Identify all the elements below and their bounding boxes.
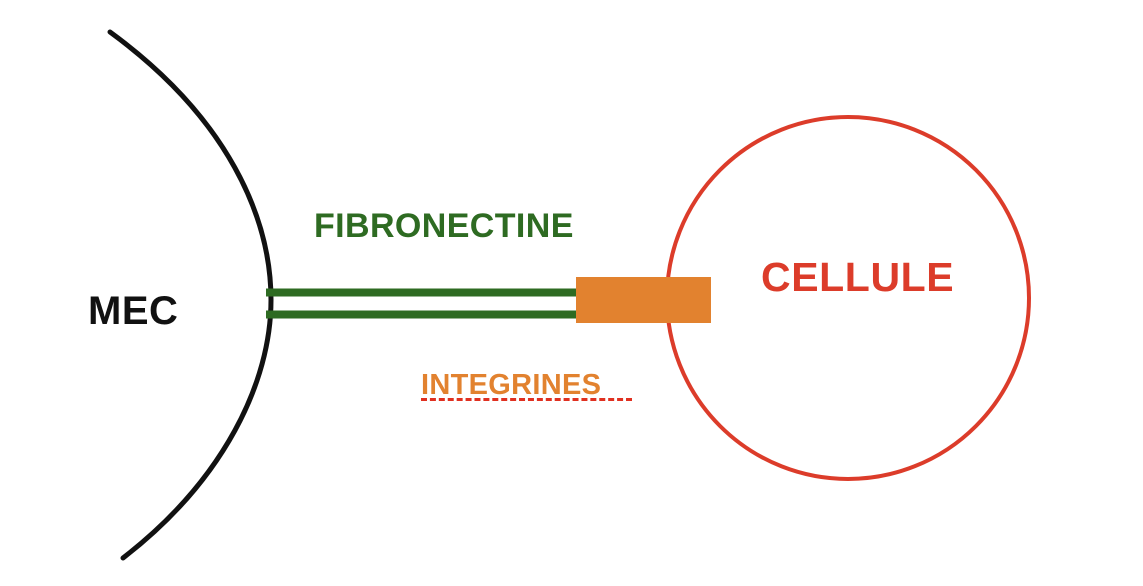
label-fibronectine: FIBRONECTINE — [314, 209, 574, 243]
label-integrines: INTEGRINES — [421, 371, 632, 400]
label-mec: MEC — [88, 291, 178, 331]
diagram-canvas: MEC FIBRONECTINE CELLULE INTEGRINES — [0, 0, 1143, 586]
label-cellule: CELLULE — [761, 257, 954, 298]
label-integrines-group: INTEGRINES — [421, 371, 632, 403]
spellcheck-underline — [421, 398, 632, 401]
integrin-receptor-block — [576, 277, 711, 323]
